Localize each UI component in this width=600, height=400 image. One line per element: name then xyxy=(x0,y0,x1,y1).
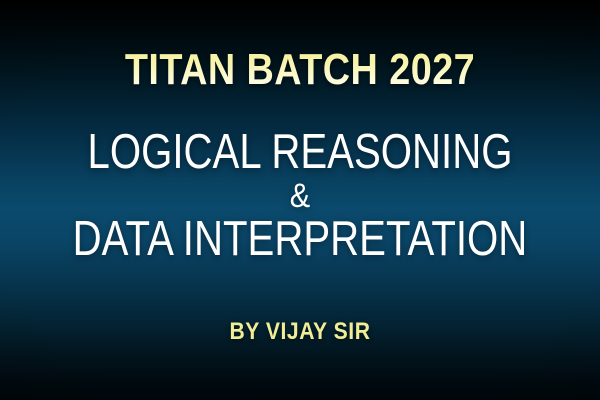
banner-headline: TITAN BATCH 2027 xyxy=(42,48,558,92)
course-banner: TITAN BATCH 2027 LOGICAL REASONING & DAT… xyxy=(0,0,600,400)
subject-separator-ampersand: & xyxy=(30,179,570,213)
subject-line-primary: LOGICAL REASONING xyxy=(54,128,546,177)
subject-line-secondary: DATA INTERPRETATION xyxy=(54,215,546,264)
banner-content: TITAN BATCH 2027 LOGICAL REASONING & DAT… xyxy=(0,0,600,400)
banner-byline: BY VIJAY SIR xyxy=(36,320,564,344)
banner-subject-block: LOGICAL REASONING & DATA INTERPRETATION xyxy=(0,128,600,264)
